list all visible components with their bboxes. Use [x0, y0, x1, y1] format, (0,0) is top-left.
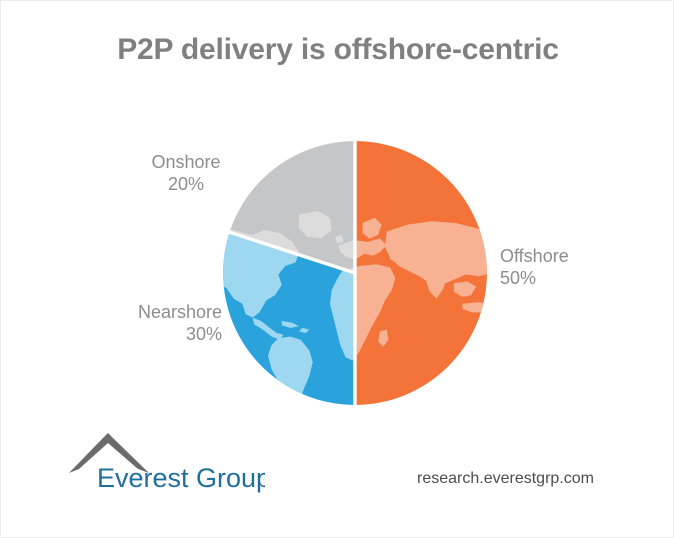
pie-label-onshore-name: Onshore [106, 151, 266, 173]
pie-label-onshore-value: 20% [106, 173, 266, 195]
page-title: P2P delivery is offshore-centric [1, 33, 674, 67]
pie-label-nearshore-value: 30% [46, 323, 222, 345]
everest-group-logo: Everest Group [65, 425, 265, 495]
logo-svg: Everest Group [65, 425, 265, 495]
pie-label-onshore: Onshore 20% [106, 151, 266, 195]
pie-label-offshore-value: 50% [500, 267, 660, 289]
logo-wordmark: Everest Group [97, 463, 265, 493]
pie-label-nearshore-name: Nearshore [46, 301, 222, 323]
footer-url[interactable]: research.everestgrp.com [417, 470, 594, 488]
pie-label-offshore-name: Offshore [500, 245, 660, 267]
pie-label-offshore: Offshore 50% [500, 245, 660, 289]
chart-page: P2P delivery is offshore-centric [0, 0, 674, 538]
pie-label-nearshore: Nearshore 30% [46, 301, 222, 345]
